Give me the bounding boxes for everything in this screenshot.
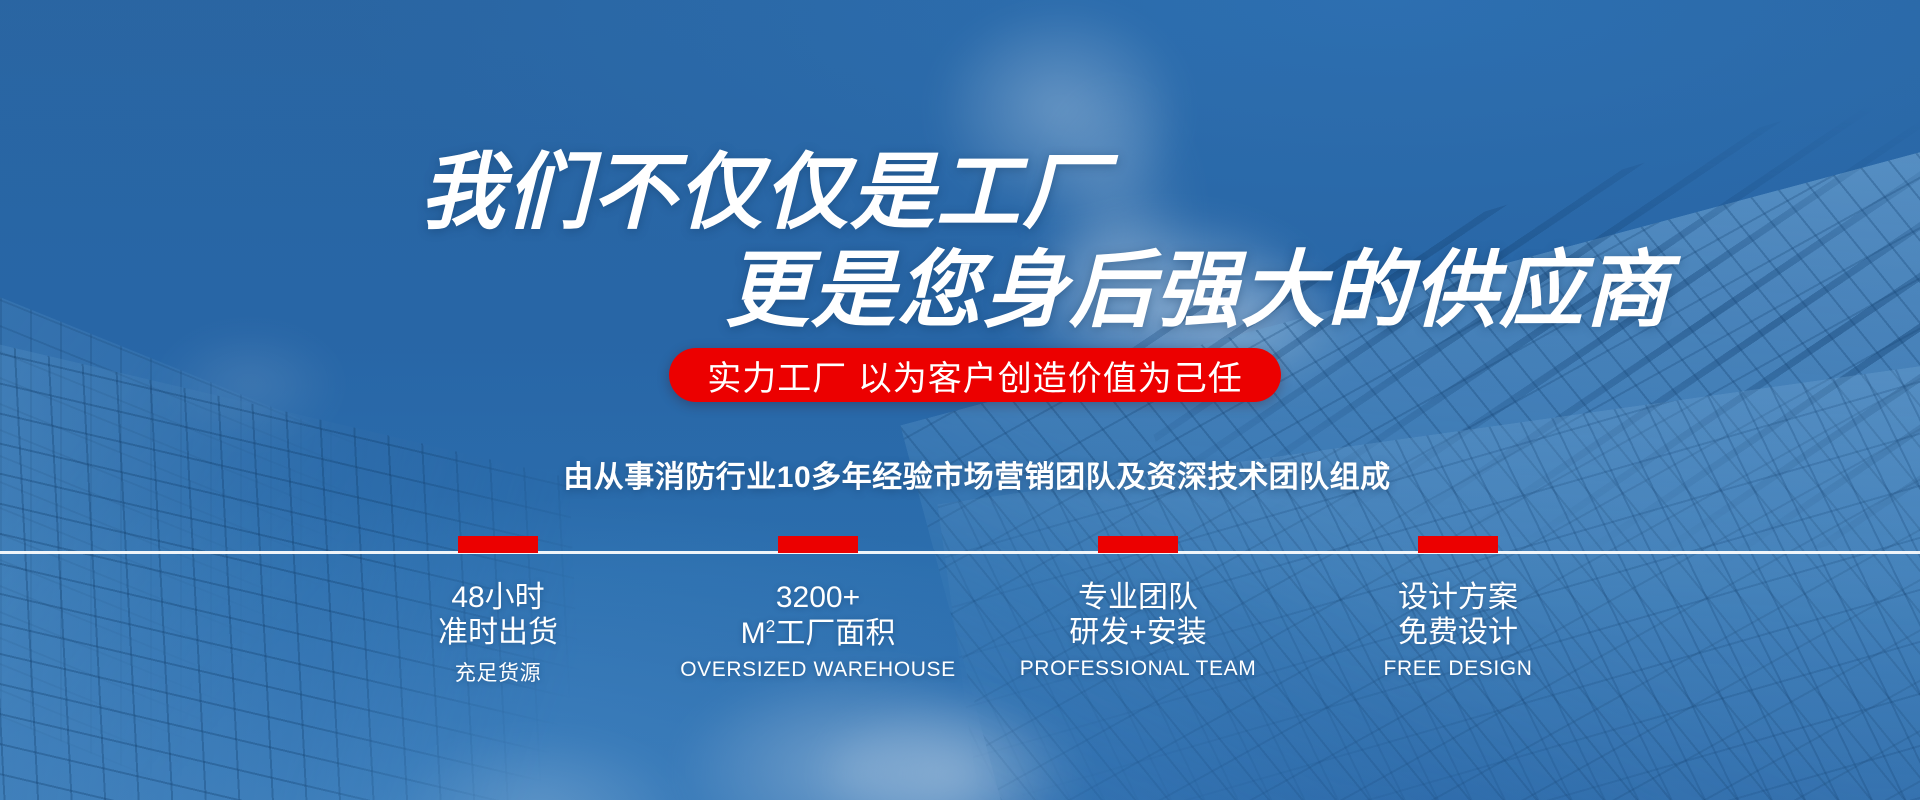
feature-line-2: 研发+安装 <box>978 616 1298 651</box>
feature-item-design: 设计方案 免费设计 FREE DESIGN <box>1298 536 1618 687</box>
slogan-badge: 实力工厂 以为客户创造价值为己任 <box>669 348 1280 402</box>
feature-line-3: OVERSIZED WAREHOUSE <box>658 658 978 682</box>
red-accent-bar <box>1418 536 1498 553</box>
red-accent-bar <box>1098 536 1178 553</box>
feature-item-team: 专业团队 研发+安装 PROFESSIONAL TEAM <box>978 536 1298 687</box>
red-accent-bar <box>458 536 538 553</box>
feature-line-2: M2工厂面积 <box>658 616 978 652</box>
area-unit-superscript: 2 <box>766 616 776 636</box>
badge-row: 实力工厂 以为客户创造价值为己任 <box>0 348 1920 402</box>
headline-line-2: 更是您身后强大的供应商 <box>725 248 1671 332</box>
feature-strip: 48小时 准时出货 充足货源 3200+ M2工厂面积 OVERSIZED WA… <box>0 536 1920 687</box>
feature-item-warehouse: 3200+ M2工厂面积 OVERSIZED WAREHOUSE <box>658 536 978 687</box>
feature-line-1: 48小时 <box>338 581 658 616</box>
feature-line-1: 专业团队 <box>978 581 1298 616</box>
feature-line-2: 准时出货 <box>338 616 658 651</box>
hero-banner: 我们不仅仅是工厂 更是您身后强大的供应商 实力工厂 以为客户创造价值为己任 由从… <box>0 0 1920 800</box>
feature-line-3: PROFESSIONAL TEAM <box>978 657 1298 681</box>
feature-item-shipping: 48小时 准时出货 充足货源 <box>338 536 658 687</box>
feature-line-1: 设计方案 <box>1298 581 1618 616</box>
red-accent-bar <box>778 536 858 553</box>
feature-line-3: 充足货源 <box>338 657 658 687</box>
banner-subtitle: 由从事消防行业10多年经验市场营销团队及资深技术团队组成 <box>0 452 1920 496</box>
feature-line-2: 免费设计 <box>1298 616 1618 651</box>
headline-line-1: 我们不仅仅是工厂 <box>420 150 1108 234</box>
area-unit-suffix: 工厂面积 <box>775 617 895 650</box>
feature-line-3: FREE DESIGN <box>1298 657 1618 681</box>
area-unit-prefix: M <box>741 617 766 650</box>
banner-content: 我们不仅仅是工厂 更是您身后强大的供应商 实力工厂 以为客户创造价值为己任 由从… <box>0 0 1920 800</box>
feature-line-1: 3200+ <box>658 581 978 616</box>
